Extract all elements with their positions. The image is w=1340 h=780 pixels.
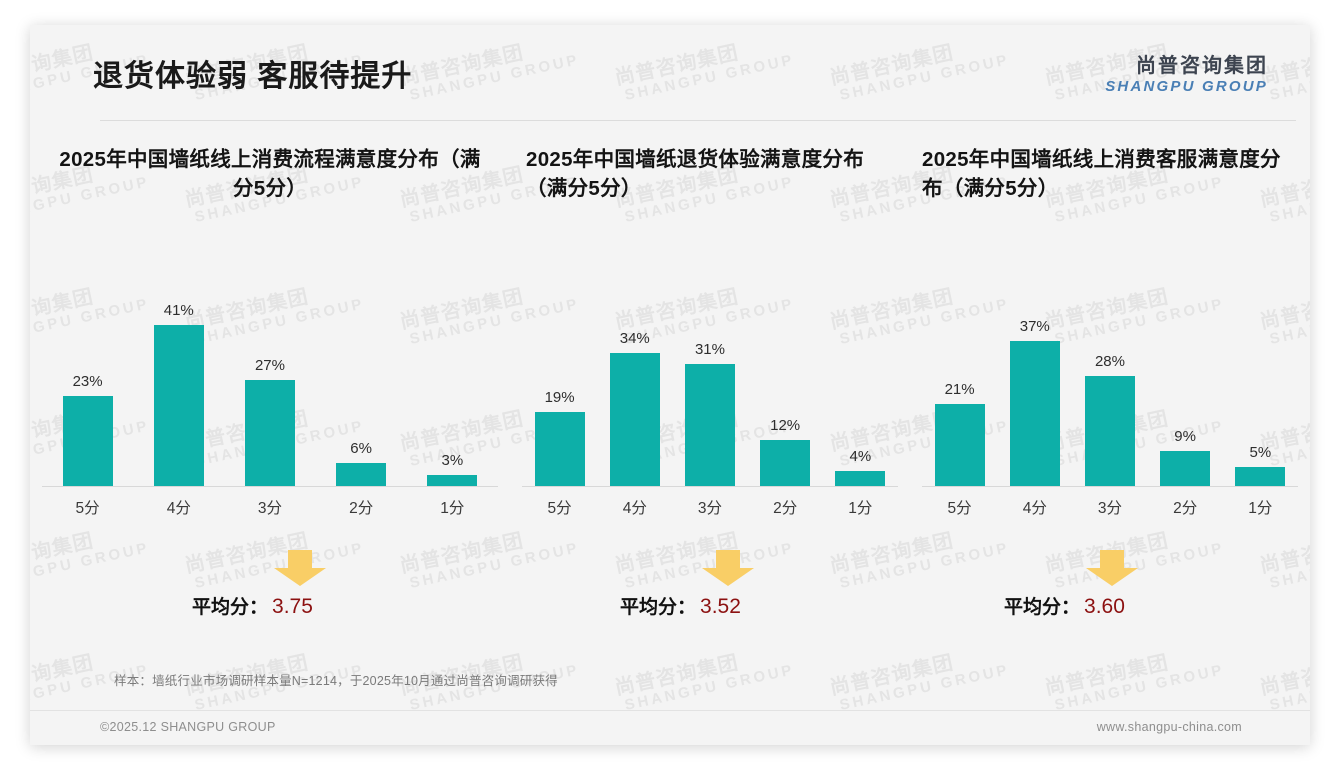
bar-value-label: 12% [770, 418, 800, 433]
chart-panel-1: 2025年中国墙纸线上消费流程满意度分布（满分5分）23%41%27%6%3%5… [30, 145, 510, 665]
x-tick-label: 1分 [1227, 496, 1295, 518]
bar-group: 37% [1001, 267, 1069, 487]
average-score-value: 3.52 [700, 595, 741, 618]
plot-area: 21%37%28%9%5% [922, 267, 1298, 487]
slide-footer: ©2025.12 SHANGPU GROUP www.shangpu-china… [30, 711, 1310, 745]
x-tick-label: 3分 [1076, 496, 1144, 518]
x-tick-label: 2分 [320, 496, 402, 518]
x-axis-line [42, 486, 498, 487]
bar-value-label: 21% [945, 382, 975, 397]
x-tick-label: 5分 [926, 496, 994, 518]
average-score-text: 平均分：3.75 [192, 592, 313, 619]
charts-row: 2025年中国墙纸线上消费流程满意度分布（满分5分）23%41%27%6%3%5… [30, 145, 1310, 665]
bar[interactable] [336, 463, 386, 487]
website-link[interactable]: www.shangpu-china.com [1097, 720, 1242, 734]
x-tick-label: 4分 [601, 496, 669, 518]
average-score-value: 3.60 [1084, 595, 1125, 618]
bar-group: 4% [827, 267, 895, 487]
chart-title: 2025年中国墙纸线上消费流程满意度分布（满分5分） [42, 145, 498, 207]
logo-cn-text: 尚普咨询集团 [1105, 55, 1268, 78]
header-divider [100, 120, 1296, 121]
x-tick-label: 2分 [751, 496, 819, 518]
bar-series: 19%34%31%12%4% [522, 267, 898, 487]
chart-title: 2025年中国墙纸退货体验满意度分布（满分5分） [522, 145, 898, 207]
bar-value-label: 34% [620, 331, 650, 346]
bar-value-label: 37% [1020, 319, 1050, 334]
average-score-label: 平均分： [192, 597, 268, 618]
average-score-text: 平均分：3.60 [1004, 592, 1125, 619]
plot-area: 23%41%27%6%3% [42, 267, 498, 487]
bar-group: 41% [138, 267, 220, 487]
bar-group: 31% [676, 267, 744, 487]
down-arrow-icon [700, 548, 756, 588]
average-score-label: 平均分： [620, 597, 696, 618]
bar-group: 21% [926, 267, 994, 487]
bar-value-label: 19% [545, 390, 575, 405]
bar-series: 23%41%27%6%3% [42, 267, 498, 487]
bar-value-label: 28% [1095, 354, 1125, 369]
x-axis-tick-labels: 5分4分3分2分1分 [522, 496, 898, 518]
bar[interactable] [685, 364, 735, 487]
bar-value-label: 31% [695, 342, 725, 357]
bar-series: 21%37%28%9%5% [922, 267, 1298, 487]
down-arrow-icon [1084, 548, 1140, 588]
bar[interactable] [1160, 451, 1210, 487]
bar-group: 19% [526, 267, 594, 487]
company-logo: 尚普咨询集团 SHANGPU GROUP [1105, 55, 1268, 96]
copyright-text: ©2025.12 SHANGPU GROUP [100, 720, 276, 734]
x-axis-tick-labels: 5分4分3分2分1分 [922, 496, 1298, 518]
average-score-label: 平均分： [1004, 597, 1080, 618]
logo-en-text: SHANGPU GROUP [1105, 78, 1268, 96]
chart-title: 2025年中国墙纸线上消费客服满意度分布（满分5分） [922, 145, 1298, 207]
bar-group: 12% [751, 267, 819, 487]
chart-panel-3: 2025年中国墙纸线上消费客服满意度分布（满分5分）21%37%28%9%5%5… [910, 145, 1310, 665]
bar[interactable] [1085, 376, 1135, 487]
slide-card: 尚普咨询集团SHANGPU GROUP尚普咨询集团SHANGPU GROUP尚普… [30, 25, 1310, 745]
x-tick-label: 5分 [526, 496, 594, 518]
bar-group: 9% [1151, 267, 1219, 487]
bar[interactable] [835, 471, 885, 487]
bar[interactable] [535, 412, 585, 487]
x-tick-label: 1分 [411, 496, 493, 518]
bar-value-label: 4% [849, 449, 871, 464]
bar-group: 6% [320, 267, 402, 487]
average-block: 平均分：3.60 [922, 548, 1298, 638]
bar-group: 34% [601, 267, 669, 487]
bar-value-label: 41% [164, 303, 194, 318]
bar[interactable] [63, 396, 113, 487]
bar-group: 27% [229, 267, 311, 487]
x-tick-label: 4分 [1001, 496, 1069, 518]
average-score-value: 3.75 [272, 595, 313, 618]
bar-value-label: 5% [1249, 445, 1271, 460]
footnote-wrap: 样本：墙纸行业市场调研样本量N=1214，于2025年10月通过尚普咨询调研获得 [30, 670, 1310, 698]
x-axis-tick-labels: 5分4分3分2分1分 [42, 496, 498, 518]
bar-group: 28% [1076, 267, 1144, 487]
bar-group: 5% [1227, 267, 1295, 487]
bar-group: 23% [47, 267, 129, 487]
bar[interactable] [154, 325, 204, 487]
x-axis-line [922, 486, 1298, 487]
sample-footnote: 样本：墙纸行业市场调研样本量N=1214，于2025年10月通过尚普咨询调研获得 [114, 670, 1310, 698]
average-block: 平均分：3.75 [42, 548, 498, 638]
page-title: 退货体验弱 客服待提升 [93, 51, 412, 95]
x-tick-label: 3分 [676, 496, 744, 518]
bar[interactable] [245, 380, 295, 487]
bar[interactable] [610, 353, 660, 487]
bar[interactable] [1010, 341, 1060, 487]
bar-value-label: 27% [255, 358, 285, 373]
bar[interactable] [1235, 467, 1285, 487]
average-block: 平均分：3.52 [522, 548, 898, 638]
x-tick-label: 1分 [827, 496, 895, 518]
bar[interactable] [760, 440, 810, 487]
bar[interactable] [935, 404, 985, 487]
average-score-text: 平均分：3.52 [620, 592, 741, 619]
x-tick-label: 4分 [138, 496, 220, 518]
x-tick-label: 2分 [1151, 496, 1219, 518]
bar-value-label: 23% [73, 374, 103, 389]
x-tick-label: 3分 [229, 496, 311, 518]
bar-group: 3% [411, 267, 493, 487]
slide-header: 退货体验弱 客服待提升 尚普咨询集团 SHANGPU GROUP [30, 25, 1310, 121]
down-arrow-icon [272, 548, 328, 588]
x-tick-label: 5分 [47, 496, 129, 518]
bar-value-label: 9% [1174, 429, 1196, 444]
plot-area: 19%34%31%12%4% [522, 267, 898, 487]
bar-value-label: 6% [350, 441, 372, 456]
bar-value-label: 3% [441, 453, 463, 468]
chart-panel-2: 2025年中国墙纸退货体验满意度分布（满分5分）19%34%31%12%4%5分… [510, 145, 910, 665]
x-axis-line [522, 486, 898, 487]
